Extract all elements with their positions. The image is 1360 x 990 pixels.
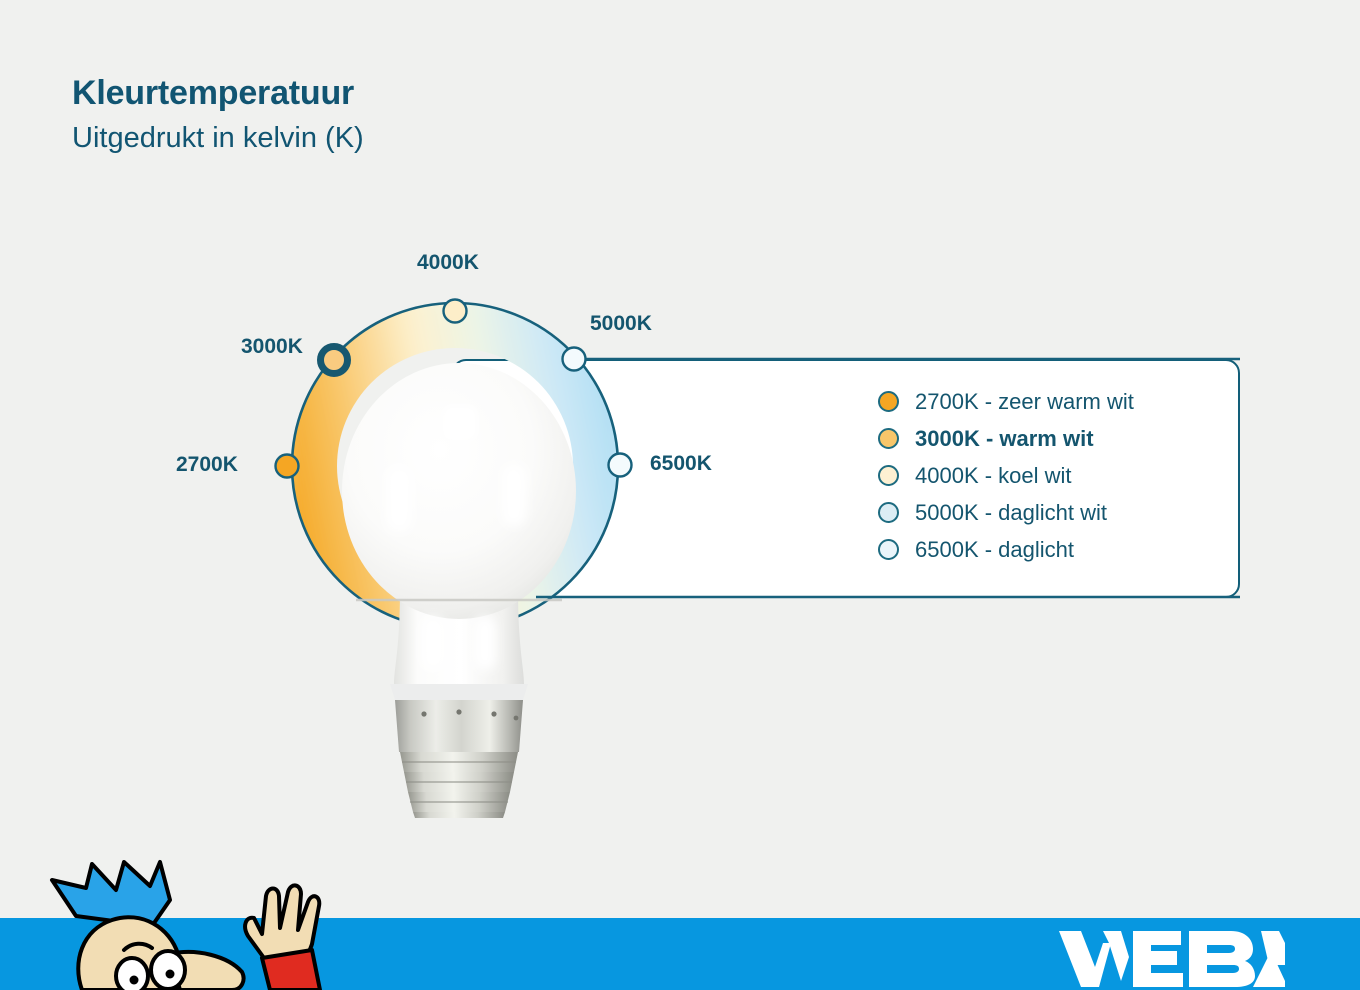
bulb-highlight-neck-left bbox=[422, 616, 444, 670]
mascot-character-icon bbox=[20, 858, 360, 990]
legend-dot-5000k bbox=[878, 502, 899, 523]
cap-dimple-4 bbox=[514, 716, 519, 721]
cap-dimple-2 bbox=[456, 709, 461, 714]
legend-dot-3000k bbox=[878, 428, 899, 449]
dial-label-5000k: 5000K bbox=[590, 312, 652, 336]
bulb-highlight-neck-right bbox=[474, 616, 496, 670]
legend-dot-6500k bbox=[878, 539, 899, 560]
bulb-metal-cap bbox=[395, 700, 523, 752]
mascot-pupil-left bbox=[130, 976, 139, 985]
cap-dimple-3 bbox=[491, 711, 496, 716]
legend-label-3000k: 3000K - warm wit bbox=[915, 426, 1094, 452]
legend-dot-4000k bbox=[878, 465, 899, 486]
legend-label-6500k: 6500K - daglicht bbox=[915, 537, 1074, 563]
light-bulb-icon bbox=[324, 348, 594, 818]
legend-item-5000k[interactable]: 5000K - daglicht wit bbox=[878, 494, 1134, 531]
bulb-highlight-left bbox=[386, 466, 412, 532]
mascot-eye-left bbox=[116, 958, 148, 990]
mascot-pupil-right bbox=[166, 970, 175, 979]
bulb-glass bbox=[342, 363, 576, 619]
weba-logo-icon bbox=[1055, 925, 1285, 990]
legend-list: 2700K - zeer warm wit 3000K - warm wit 4… bbox=[878, 383, 1134, 568]
legend-dot-2700k bbox=[878, 391, 899, 412]
bulb-highlight-top bbox=[443, 406, 477, 440]
cap-dimple-1 bbox=[421, 711, 426, 716]
color-temperature-diagram: 2700K - zeer warm wit 3000K - warm wit 4… bbox=[0, 0, 1360, 918]
bulb-collar bbox=[390, 684, 528, 700]
bulb-screw-threads bbox=[400, 752, 518, 818]
legend-item-3000k[interactable]: 3000K - warm wit bbox=[878, 420, 1134, 457]
mascot-hair bbox=[52, 862, 170, 926]
dial-label-4000k: 4000K bbox=[417, 251, 479, 275]
legend-label-5000k: 5000K - daglicht wit bbox=[915, 500, 1107, 526]
legend-label-4000k: 4000K - koel wit bbox=[915, 463, 1072, 489]
dial-label-3000k: 3000K bbox=[241, 335, 303, 359]
bulb-highlight-right bbox=[502, 464, 526, 526]
mascot-sleeve bbox=[262, 950, 320, 990]
legend-item-2700k[interactable]: 2700K - zeer warm wit bbox=[878, 383, 1134, 420]
dial-label-2700k: 2700K bbox=[176, 453, 238, 477]
legend-label-2700k: 2700K - zeer warm wit bbox=[915, 389, 1134, 415]
dial-marker-4000k[interactable] bbox=[444, 300, 467, 323]
dial-marker-2700k[interactable] bbox=[276, 455, 299, 478]
legend-item-6500k[interactable]: 6500K - daglicht bbox=[878, 531, 1134, 568]
dial-label-6500k: 6500K bbox=[650, 452, 712, 476]
legend-item-4000k[interactable]: 4000K - koel wit bbox=[878, 457, 1134, 494]
